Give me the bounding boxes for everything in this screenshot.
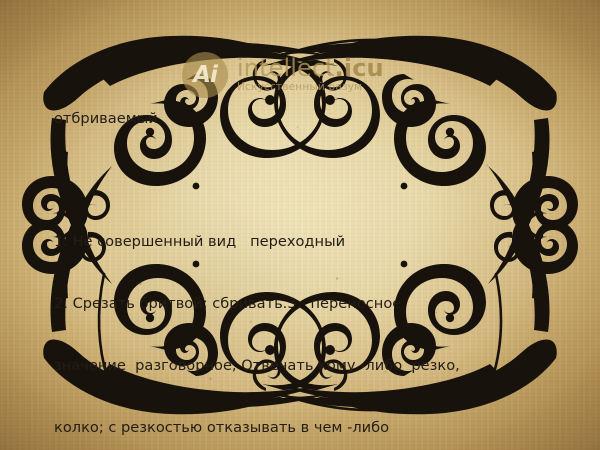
definition-line: значение разговорное, Отвечать кому -либ… (54, 356, 552, 377)
definition-line: 2. Срезать бритвой; сбривать.3. переносн… (54, 294, 552, 315)
definition-line: 1. Не совершенный вид переходный (54, 232, 552, 253)
dictionary-article: отбриваемый 1. Не совершенный вид перехо… (54, 68, 552, 450)
definition-list: 1. Не совершенный вид переходный 2. Срез… (54, 191, 552, 450)
headword: отбриваемый (54, 109, 552, 130)
definition-line: колко; с резкостью отказывать в чем -либ… (54, 418, 552, 439)
dictionary-entry-card: Ai intellect.icu Искусственный разум отб… (0, 0, 600, 450)
